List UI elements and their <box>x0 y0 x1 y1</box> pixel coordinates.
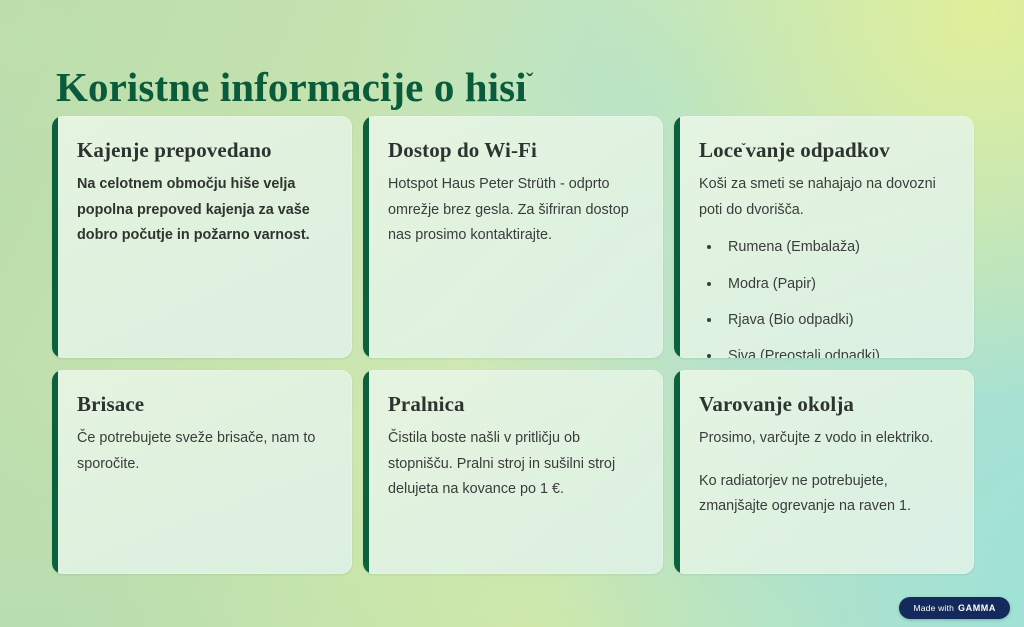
card-kajenje-prepovedano[interactable]: Kajenje prepovedano Na celotnem območju … <box>52 116 352 358</box>
card-pralnica[interactable]: Pralnica Čistila boste našli v pritličju… <box>363 370 663 574</box>
page-title-caron-mark: ˇ <box>526 68 534 93</box>
info-card-grid: Kajenje prepovedano Na celotnem območju … <box>52 116 974 574</box>
card-paragraph: Koši za smeti se nahajajo na dovozni pot… <box>699 172 950 223</box>
page-title-text: Koristne informacije o hisi <box>56 64 527 110</box>
card-title: Pralnica <box>388 392 639 417</box>
waste-bin-list: Rumena (Embalaža) Modra (Papir) Rjava (B… <box>699 237 950 358</box>
list-item: Rumena (Embalaža) <box>699 237 950 257</box>
card-title: Loceˇvanje odpadkov <box>699 138 950 163</box>
card-paragraph: Prosimo, varčujte z vodo in elektriko. <box>699 426 950 452</box>
card-paragraph: Če potrebujete sveže brisače, nam to spo… <box>77 426 328 477</box>
list-item: Modra (Papir) <box>699 274 950 294</box>
gamma-wordmark: GAMMA <box>958 603 996 613</box>
card-title: Varovanje okolja <box>699 392 950 417</box>
list-item: Siva (Preostali odpadki) <box>699 346 950 358</box>
card-locevanje-odpadkov[interactable]: Loceˇvanje odpadkov Koši za smeti se nah… <box>674 116 974 358</box>
card-paragraph: Hotspot Haus Peter Strüth - odprto omrež… <box>388 172 639 249</box>
card-brisace[interactable]: Brisace Če potrebujete sveže brisače, na… <box>52 370 352 574</box>
badge-prefix-label: Made with <box>913 603 954 613</box>
card-paragraph: Na celotnem območju hiše velja popolna p… <box>77 172 328 249</box>
card-title-prefix: Loce <box>699 138 743 162</box>
list-item: Rjava (Bio odpadki) <box>699 310 950 330</box>
slide-canvas: Koristne informacije o hisiˇ Kajenje pre… <box>0 0 1024 627</box>
page-title: Koristne informacije o hisiˇ <box>56 65 534 110</box>
card-varovanje-okolja[interactable]: Varovanje okolja Prosimo, varčujte z vod… <box>674 370 974 574</box>
card-paragraph: Ko radiatorjev ne potrebujete, zmanjšajt… <box>699 469 950 520</box>
card-dostop-do-wifi[interactable]: Dostop do Wi-Fi Hotspot Haus Peter Strüt… <box>363 116 663 358</box>
card-title: Brisace <box>77 392 328 417</box>
card-paragraph: Čistila boste našli v pritličju ob stopn… <box>388 426 639 503</box>
card-title: Kajenje prepovedano <box>77 138 328 163</box>
made-with-gamma-badge[interactable]: Made with GAMMA <box>899 597 1010 619</box>
card-title: Dostop do Wi-Fi <box>388 138 639 163</box>
card-title-suffix: vanje odpadkov <box>745 138 889 162</box>
